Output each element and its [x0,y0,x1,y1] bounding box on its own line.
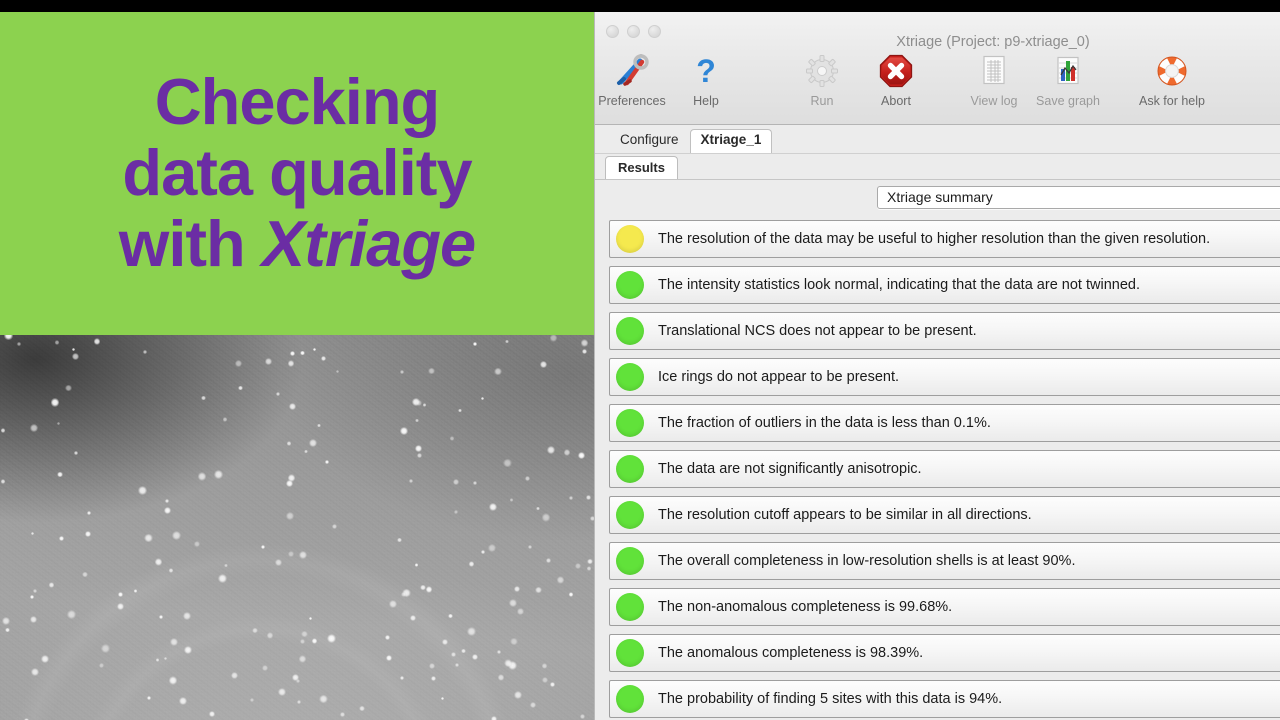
diffraction-spot [301,631,308,638]
slide-title-line-2: data quality [122,140,471,207]
status-ok-icon [616,317,644,345]
diffraction-spot [118,592,123,597]
toolbar-label-abort: Abort [881,94,911,108]
status-ok-icon [616,685,644,713]
diffraction-spot [542,663,548,669]
result-row[interactable]: Translational NCS does not appear to be … [609,312,1280,350]
diffraction-spot [265,358,272,365]
stop-x-icon [879,50,913,92]
letterbox-top-band [0,0,1280,12]
diffraction-spot [82,572,87,577]
diffraction-spot [400,427,408,435]
diffraction-spot [587,566,592,571]
diffraction-spot [299,551,307,559]
result-row[interactable]: The probability of finding 5 sites with … [609,680,1280,718]
diffraction-spot [49,582,54,587]
status-ok-icon [616,547,644,575]
diffraction-spot [575,563,581,569]
toolbar-button-view-log[interactable]: View log [957,46,1031,108]
result-message: The anomalous completeness is 98.39%. [658,645,923,661]
toolbar-label-view-log: View log [970,94,1017,108]
status-ok-icon [616,271,644,299]
toolbar-button-abort[interactable]: Abort [859,46,933,108]
diffraction-spot [224,564,228,568]
diffraction-spot [386,655,392,661]
toolbar-button-run[interactable]: Run [785,46,859,108]
diffraction-spot [514,691,522,699]
diffraction-spot [420,585,425,590]
toolbar-label-help: Help [693,94,719,108]
result-message: The fraction of outliers in the data is … [658,415,991,431]
diffraction-spot [156,658,159,661]
diffraction-spot [267,632,273,638]
diffraction-spot [87,511,91,515]
diffraction-spot [31,668,39,676]
diffraction-spot [278,688,286,696]
toolbar-label-run: Run [811,94,834,108]
diffraction-spot [569,592,573,596]
diffraction-spot [581,339,589,347]
tab-configure[interactable]: Configure [609,129,690,153]
result-message: Translational NCS does not appear to be … [658,323,977,339]
diffraction-spot [488,544,496,552]
diffraction-spot [159,615,163,619]
diffraction-spot [450,436,455,441]
slide-title-line-1: Checking [155,69,440,136]
screenshot-root: Checking data quality with Xtriage Xtria… [0,0,1280,720]
diffraction-spot [144,534,152,542]
diffraction-spot [409,479,413,483]
diffraction-spot [426,586,432,592]
toolbar-label-preferences: Preferences [598,94,665,108]
diffraction-spot [415,563,418,566]
diffraction-spot [540,361,547,368]
diffraction-spot [340,712,345,717]
diffraction-spot [164,507,171,514]
diffraction-spot [359,706,364,711]
diffraction-spot [238,386,243,391]
diffraction-spot [455,663,459,667]
diffraction-spot [494,368,501,375]
diffraction-spot [41,655,49,663]
result-message: The data are not significantly anisotrop… [658,461,922,477]
result-message: The non-anomalous completeness is 99.68%… [658,599,952,615]
diffraction-spot [550,682,555,687]
toolbar-button-save-graph[interactable]: Save graph [1031,46,1105,108]
diffraction-spot [514,586,520,592]
diffraction-spot [327,634,336,643]
diffraction-spot [582,349,587,354]
diffraction-spot [288,360,295,367]
window-titlebar: Xtriage (Project: p9-xtriage_0) [595,12,1280,125]
diffraction-spot [299,655,306,662]
diffraction-spot [30,424,38,432]
diffraction-spot [442,639,447,644]
tab-results[interactable]: Results [605,156,678,179]
diffraction-spot [313,348,316,351]
diffraction-spot [467,627,476,636]
diffraction-spot [325,460,329,464]
result-row[interactable]: Ice rings do not appear to be present. [609,358,1280,396]
diffraction-spot [55,340,60,345]
slide-title-card: Checking data quality with Xtriage [0,12,594,335]
toolbar-button-help[interactable]: ? Help [669,46,743,108]
slide-title-line-3: with Xtriage [119,211,475,278]
diffraction-spot [179,697,187,705]
diffraction-spot [578,452,585,459]
gear-icon [805,50,839,92]
diffraction-spot [542,677,548,683]
diffraction-spot [286,480,293,487]
result-row[interactable]: The resolution of the data may be useful… [609,220,1280,258]
diffraction-spot [517,608,524,615]
diffraction-spot [218,574,227,583]
result-message: The overall completeness in low-resoluti… [658,553,1075,569]
diffraction-spot [461,649,465,653]
xtriage-app-window: Xtriage (Project: p9-xtriage_0) [594,12,1280,720]
diffraction-spot [184,646,192,654]
toolbar-label-save-graph: Save graph [1036,94,1100,108]
slide-title-line-3-prefix: with [119,207,262,280]
diffraction-spot [209,711,215,717]
diffraction-spot [472,654,478,660]
diffraction-spot [2,617,10,625]
diffraction-spot [292,674,299,681]
status-ok-icon [616,501,644,529]
diffraction-spot [275,559,281,565]
diffraction-spot [542,513,550,521]
result-row[interactable]: The resolution cutoff appears to be simi… [609,496,1280,534]
diffraction-spot [586,495,591,500]
slide-title-line-3-emphasis: Xtriage [262,207,475,280]
diffraction-spot [423,403,426,406]
diffraction-spot [453,479,459,485]
result-row[interactable]: The anomalous completeness is 98.39%. [609,634,1280,672]
document-log-icon [977,50,1011,92]
diffraction-spot [389,600,397,608]
result-row[interactable]: The intensity statistics look normal, in… [609,266,1280,304]
diffraction-spot [1,428,6,433]
diffraction-spot [491,716,497,720]
diffraction-spot [5,628,10,633]
diffraction-spot [510,638,517,645]
diffraction-spot [4,335,13,340]
diffraction-spot [138,486,147,495]
diffraction-spot [286,512,294,520]
diffraction-spot [65,385,71,391]
diffraction-spot [535,587,542,594]
diffraction-spot [304,450,308,454]
result-row[interactable]: The fraction of outliers in the data is … [609,404,1280,442]
diffraction-spot [564,449,570,455]
diffraction-spot [143,350,147,354]
question-mark-icon: ? [689,50,723,92]
toolbar-button-preferences[interactable]: Preferences [595,46,669,108]
diffraction-spot [297,700,300,703]
diffraction-pattern-image [0,335,594,720]
status-ok-icon [616,409,644,437]
status-ok-icon [616,639,644,667]
results-list: The resolution of the data may be useful… [595,214,1280,720]
diffraction-spot [536,507,539,510]
diffraction-spot [85,531,91,537]
main-toolbar: Preferences ? Help [595,46,1280,122]
result-message: The probability of finding 5 sites with … [658,691,1002,707]
diffraction-spot [101,644,109,652]
result-message: The resolution of the data may be useful… [658,231,1210,247]
diffraction-spot [288,551,294,557]
tab-xtriage-1[interactable]: Xtriage_1 [690,129,773,153]
diffraction-spot [451,652,456,657]
presentation-slide: Checking data quality with Xtriage [0,12,594,720]
result-message: The resolution cutoff appears to be simi… [658,507,1032,523]
diffraction-spot [448,614,452,618]
status-ok-icon [616,455,644,483]
diffraction-spot [183,612,191,620]
diffraction-spot [194,541,200,547]
summary-select-value: Xtriage summary [878,189,993,205]
diffraction-spot [170,638,178,646]
diffraction-spot [400,370,404,374]
sub-tabbar: Results [595,153,1280,179]
diffraction-spot [252,628,257,633]
result-message: Ice rings do not appear to be present. [658,369,899,385]
result-row[interactable]: The overall completeness in low-resoluti… [609,542,1280,580]
diffraction-spot [169,568,174,573]
diffraction-spot [214,470,223,479]
diffraction-spot [94,338,101,345]
status-warning-icon [616,225,644,253]
result-row[interactable]: The data are not significantly anisotrop… [609,450,1280,488]
diffraction-spot [428,368,435,375]
diffraction-spot [473,342,477,346]
status-ok-icon [616,363,644,391]
result-message: The intensity statistics look normal, in… [658,277,1140,293]
diffraction-spot [67,610,75,618]
svg-text:?: ? [696,54,716,88]
diffraction-spot [509,599,517,607]
diffraction-spot [498,674,504,680]
main-tabbar: Configure Xtriage_1 [595,125,1280,153]
diffraction-spot [530,702,535,707]
diffraction-spot [385,635,390,640]
status-ok-icon [616,593,644,621]
toolbar-button-ask-for-help[interactable]: Ask for help [1135,46,1209,108]
diffraction-spot [300,639,305,644]
diffraction-spot [117,603,124,610]
summary-select-row: Xtriage summary [595,179,1280,214]
preferences-tools-icon [615,50,649,92]
life-ring-icon [1155,50,1189,92]
result-row[interactable]: The non-anomalous completeness is 99.68%… [609,588,1280,626]
bar-chart-icon [1051,50,1085,92]
diffraction-spot [262,665,268,671]
diffraction-spot [169,676,177,684]
diffraction-spot [1,479,5,483]
toolbar-label-ask-for-help: Ask for help [1139,94,1205,108]
summary-select[interactable]: Xtriage summary [877,186,1280,209]
